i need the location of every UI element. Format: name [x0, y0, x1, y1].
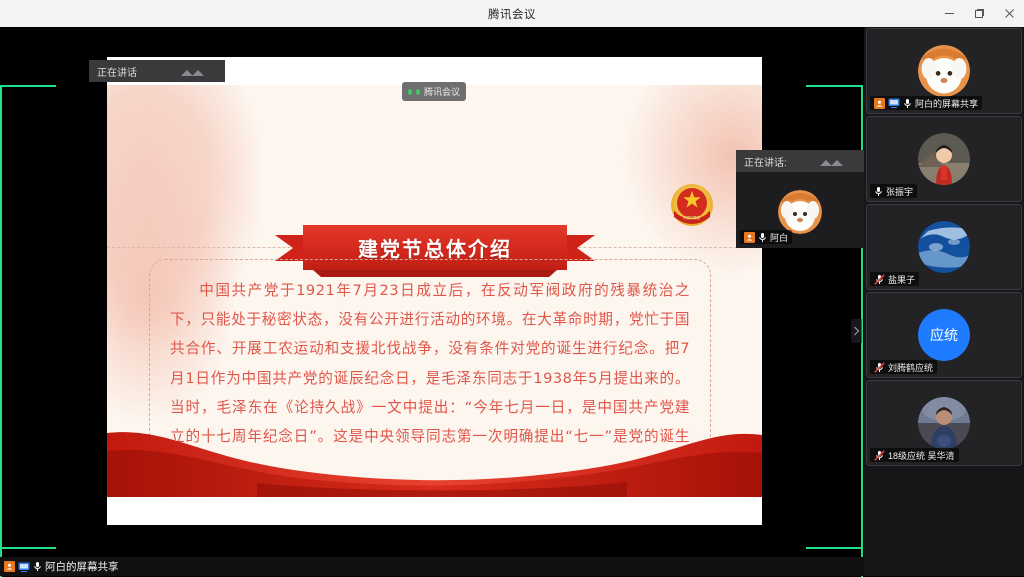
svg-text:应统: 应统: [930, 327, 958, 344]
participant-name-tag: 盐果子: [870, 272, 919, 286]
speaking-label: 正在讲话: [97, 64, 137, 79]
microphone-muted-icon: [874, 450, 885, 461]
tencent-meeting-window: 腾讯会议: [0, 0, 1024, 576]
participant-avatar: [918, 45, 970, 97]
communist-youth-league-emblem: 中国共青团: [666, 181, 718, 233]
participant-tile[interactable]: 盐果子: [866, 204, 1022, 290]
speaker-name-tag: 阿白: [740, 230, 792, 244]
sidebar-collapse-button[interactable]: [851, 319, 862, 343]
share-border-bottom-left: [0, 547, 56, 549]
screen-share-toolbar-pill[interactable]: 腾讯会议: [402, 82, 466, 101]
title-bar: 腾讯会议: [0, 0, 1024, 28]
participant-tile[interactable]: 18级应统 吴华清: [866, 380, 1022, 466]
audio-wave-icon: [820, 156, 850, 174]
chevron-right-icon: [853, 326, 860, 336]
maximize-button[interactable]: [964, 0, 994, 27]
participant-tile[interactable]: 阿白的屏幕共享: [866, 28, 1022, 114]
participant-avatar: [918, 397, 970, 449]
participant-tile[interactable]: 张振宇: [866, 116, 1022, 202]
sidebar-speaking-badge: 正在讲话: [89, 60, 225, 82]
window-controls: [934, 0, 1024, 27]
self-name: 阿白的屏幕共享: [45, 559, 119, 574]
screen-share-icon: [18, 562, 30, 572]
shared-slide: 中国共青团 建党节总体介绍 中国共产党于1921年7月23日成立后，在反动军阀政…: [107, 57, 762, 525]
speaker-name: 阿白: [770, 231, 788, 244]
share-border-left: [0, 85, 2, 577]
participant-name: 阿白的屏幕共享: [915, 97, 978, 110]
participant-name: 刘腾鹤应统: [888, 361, 933, 374]
participant-name-tag: 刘腾鹤应统: [870, 360, 937, 374]
audio-wave-icon: [181, 66, 211, 84]
participant-name: 18级应统 吴华清: [888, 449, 955, 462]
svg-text:中国共青团: 中国共青团: [683, 215, 701, 220]
participant-name: 张振宇: [886, 185, 913, 198]
host-icon: [874, 98, 885, 109]
share-status-dot-2: [416, 89, 420, 95]
participant-avatar: [918, 221, 970, 273]
share-status-dot-1: [408, 89, 412, 95]
share-border-top-right: [806, 85, 863, 87]
participant-name-tag: 阿白的屏幕共享: [870, 96, 982, 110]
floating-speaker-header: 正在讲话:: [736, 150, 864, 172]
share-border-bottom-right: [806, 547, 863, 549]
slide-canvas: 中国共青团 建党节总体介绍 中国共产党于1921年7月23日成立后，在反动军阀政…: [107, 85, 762, 497]
participant-sidebar: 阿白的屏幕共享: [864, 27, 1024, 576]
floating-speaker-window[interactable]: 正在讲话:: [736, 150, 864, 248]
window-title: 腾讯会议: [488, 6, 536, 22]
participant-avatar: 应统: [918, 309, 970, 361]
speaker-avatar: [778, 190, 822, 234]
screen-share-icon: [888, 98, 900, 108]
host-icon: [4, 561, 15, 572]
participant-name-tag: 18级应统 吴华清: [870, 448, 959, 462]
participant-name: 盐果子: [888, 273, 915, 286]
microphone-icon: [874, 186, 883, 197]
host-icon: [744, 232, 755, 243]
self-name-tag: 阿白的屏幕共享: [0, 557, 123, 576]
slide-title: 建党节总体介绍: [358, 233, 512, 262]
close-button[interactable]: [994, 0, 1024, 27]
participant-avatar: [918, 133, 970, 185]
minimize-button[interactable]: [934, 0, 964, 27]
share-toolbar-label: 腾讯会议: [424, 85, 460, 98]
microphone-muted-icon: [874, 362, 885, 373]
share-border-top-left: [0, 85, 56, 87]
microphone-muted-icon: [874, 274, 885, 285]
slide-red-wave-decoration: [107, 425, 762, 497]
speaking-label: 正在讲话:: [744, 154, 787, 169]
microphone-icon: [758, 232, 767, 243]
participant-tile[interactable]: 应统 刘腾鹤应统: [866, 292, 1022, 378]
microphone-icon: [903, 98, 912, 109]
microphone-icon: [33, 561, 42, 572]
participant-name-tag: 张振宇: [870, 184, 917, 198]
